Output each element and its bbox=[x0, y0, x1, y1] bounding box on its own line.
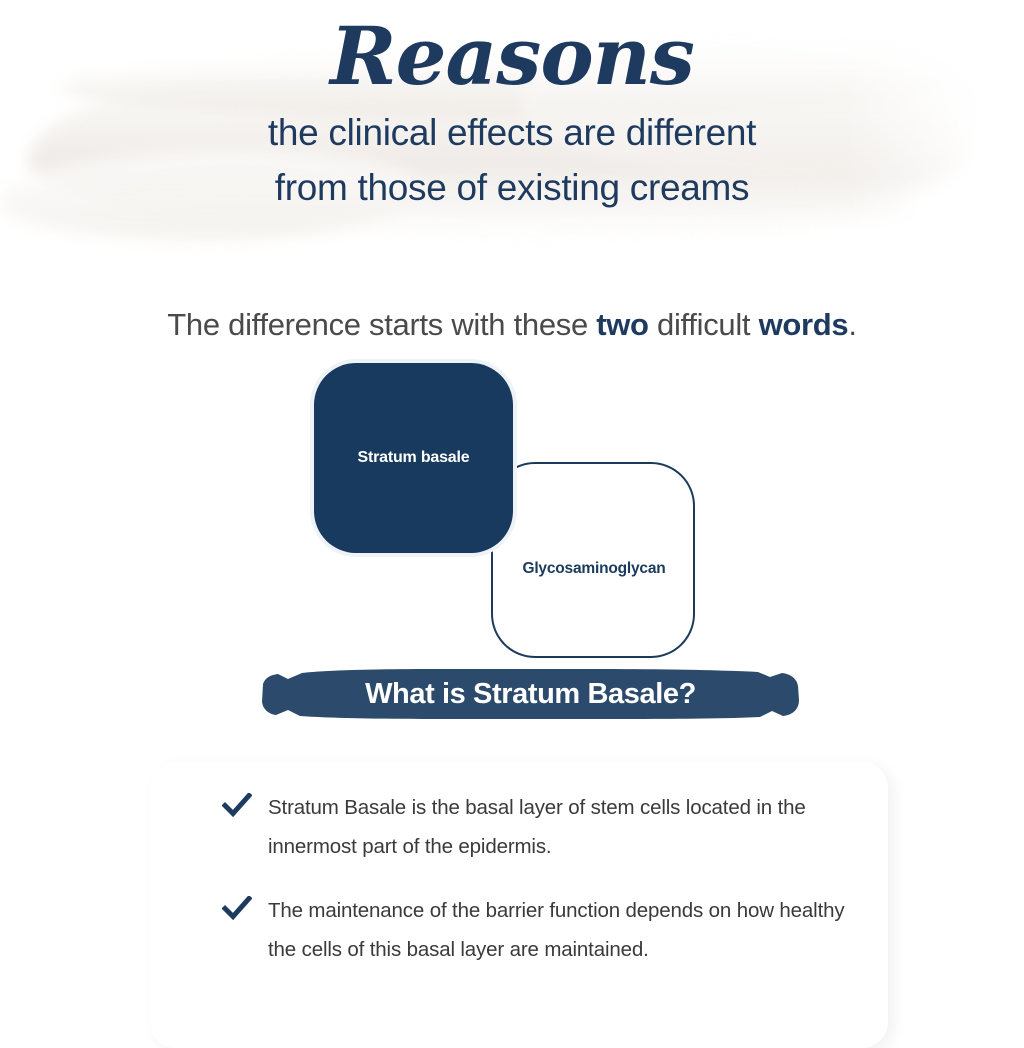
check-icon bbox=[222, 896, 252, 920]
word-box-glycosaminoglycan[interactable]: Glycosaminoglycan bbox=[491, 462, 695, 658]
bullet-list: Stratum Basale is the basal layer of ste… bbox=[150, 762, 888, 993]
list-item: Stratum Basale is the basal layer of ste… bbox=[150, 788, 888, 867]
page-subtitle-line-1: the clinical effects are different bbox=[0, 106, 1024, 161]
page-header: Reasons the clinical effects are differe… bbox=[0, 0, 1024, 216]
intro-highlight-words: words bbox=[759, 307, 849, 342]
section-banner: What is Stratum Basale? bbox=[258, 668, 803, 720]
intro-text-part-3: . bbox=[848, 307, 856, 342]
page-subtitle-line-2: from those of existing creams bbox=[0, 161, 1024, 216]
intro-text-part-1: The difference starts with these bbox=[167, 307, 596, 342]
word-box-glycosaminoglycan-label: Glycosaminoglycan bbox=[494, 560, 694, 578]
list-item-text: Stratum Basale is the basal layer of ste… bbox=[268, 788, 858, 867]
intro-text-part-2: difficult bbox=[649, 307, 759, 342]
check-icon bbox=[222, 793, 252, 817]
word-box-stratum-basale[interactable]: Stratum basale bbox=[314, 363, 513, 553]
list-item: The maintenance of the barrier function … bbox=[150, 891, 888, 970]
intro-highlight-two: two bbox=[596, 307, 648, 342]
banner-label: What is Stratum Basale? bbox=[258, 668, 803, 720]
list-item-text: The maintenance of the barrier function … bbox=[268, 891, 858, 970]
page-subtitle: the clinical effects are different from … bbox=[0, 106, 1024, 216]
intro-sentence: The difference starts with these two dif… bbox=[0, 307, 1024, 343]
page-title: Reasons bbox=[0, 0, 1024, 98]
word-box-stratum-basale-label: Stratum basale bbox=[314, 449, 513, 467]
